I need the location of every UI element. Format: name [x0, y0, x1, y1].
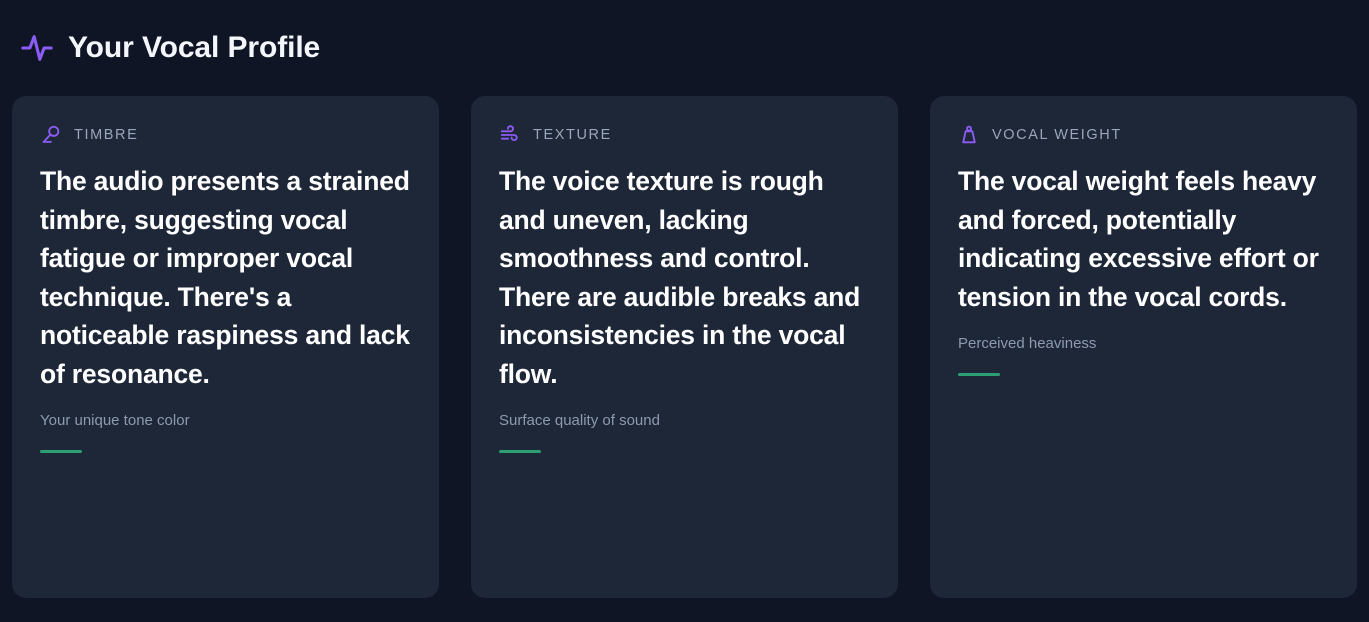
page-header: Your Vocal Profile	[12, 0, 1357, 96]
card-texture-label: TEXTURE	[533, 127, 612, 143]
vocal-profile-page: Your Vocal Profile TIMBRE The audio pres…	[0, 0, 1369, 622]
card-vocal-weight-body: The vocal weight feels heavy and forced,…	[958, 162, 1329, 316]
card-texture-caption: Surface quality of sound	[499, 412, 870, 430]
card-texture-header: TEXTURE	[499, 124, 870, 146]
card-texture-accent-bar	[499, 450, 541, 453]
wind-icon	[499, 124, 521, 146]
card-timbre-body: The audio presents a strained timbre, su…	[40, 162, 411, 393]
card-vocal-weight-accent-bar	[958, 373, 1000, 376]
vocal-attribute-cards: TIMBRE The audio presents a strained tim…	[12, 96, 1357, 598]
card-timbre-label: TIMBRE	[74, 127, 138, 143]
page-title: Your Vocal Profile	[68, 33, 320, 63]
weight-icon	[958, 124, 980, 146]
card-timbre-header: TIMBRE	[40, 124, 411, 146]
card-timbre: TIMBRE The audio presents a strained tim…	[12, 96, 439, 598]
card-vocal-weight-caption: Perceived heaviness	[958, 335, 1329, 353]
card-timbre-accent-bar	[40, 450, 82, 453]
card-vocal-weight: VOCAL WEIGHT The vocal weight feels heav…	[930, 96, 1357, 598]
card-texture-body: The voice texture is rough and uneven, l…	[499, 162, 870, 393]
card-timbre-caption: Your unique tone color	[40, 412, 411, 430]
card-texture: TEXTURE The voice texture is rough and u…	[471, 96, 898, 598]
activity-pulse-icon	[20, 31, 54, 65]
card-vocal-weight-label: VOCAL WEIGHT	[992, 127, 1122, 143]
microphone-icon	[40, 124, 62, 146]
card-vocal-weight-header: VOCAL WEIGHT	[958, 124, 1329, 146]
